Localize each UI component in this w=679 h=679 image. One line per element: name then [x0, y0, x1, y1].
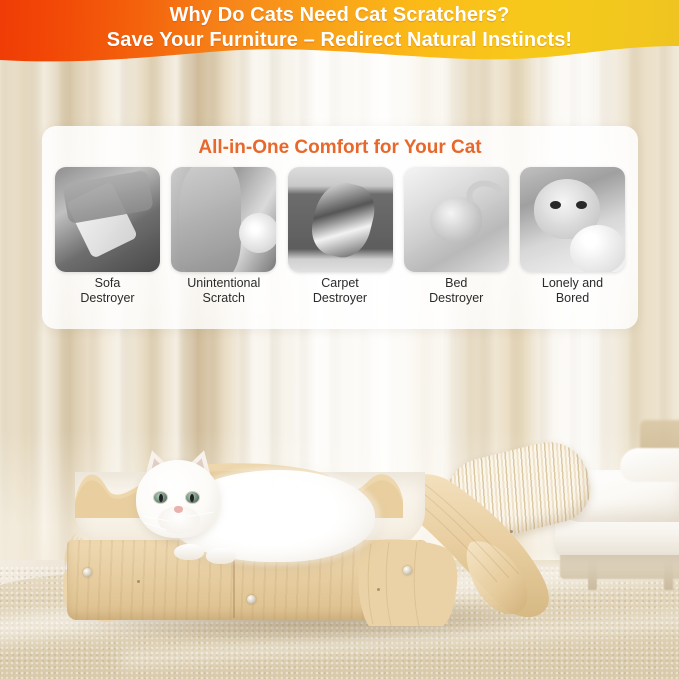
- thumb-cat-eye-right: [576, 201, 587, 209]
- thumb-cat-eye-left: [550, 201, 561, 209]
- caption-line-1: Lonely and: [517, 276, 629, 291]
- cat-on-carpet-photo: [288, 167, 393, 272]
- list-item[interactable]: Sofa Destroyer: [55, 167, 160, 319]
- caption-line-2: Bored: [517, 291, 629, 306]
- cat-head: [136, 460, 220, 538]
- white-persian-cat: [130, 448, 380, 568]
- caption-line-2: Destroyer: [400, 291, 512, 306]
- list-item[interactable]: Carpet Destroyer: [288, 167, 393, 319]
- cat-nose: [174, 506, 183, 513]
- product-infographic: Why Do Cats Need Cat Scratchers? Save Yo…: [0, 0, 679, 679]
- caption-line-2: Destroyer: [52, 291, 164, 306]
- cat-on-bed-photo: [404, 167, 509, 272]
- banner-headline-1: Why Do Cats Need Cat Scratchers?: [0, 4, 679, 27]
- bed-leg: [664, 560, 673, 590]
- caption-line-1: Sofa: [52, 276, 164, 291]
- problem-thumbnail-list: Sofa Destroyer Unintentional Scratch Car…: [55, 167, 625, 319]
- caption-line-2: Destroyer: [284, 291, 396, 306]
- caption-line-1: Bed: [400, 276, 512, 291]
- torn-sofa-photo: [55, 167, 160, 272]
- feature-card: All-in-One Comfort for Your Cat Sofa Des…: [42, 126, 638, 329]
- bed-leg: [588, 560, 597, 590]
- thumb-caption: Carpet Destroyer: [284, 276, 396, 305]
- cat-pupil-left: [159, 494, 163, 502]
- thumb-caption: Lonely and Bored: [517, 276, 629, 305]
- feature-card-title: All-in-One Comfort for Your Cat: [42, 137, 638, 159]
- list-item[interactable]: Bed Destroyer: [404, 167, 509, 319]
- scratched-chair-photo: [171, 167, 276, 272]
- screw: [403, 566, 412, 575]
- list-item[interactable]: Lonely and Bored: [520, 167, 625, 319]
- thumb-caption: Unintentional Scratch: [168, 276, 280, 305]
- caption-line-1: Carpet: [284, 276, 396, 291]
- cat-paw-left: [174, 544, 204, 560]
- banner-headline-2: Save Your Furniture – Redirect Natural I…: [0, 29, 679, 52]
- nail-hole: [377, 588, 380, 591]
- thumb-caption: Sofa Destroyer: [52, 276, 164, 305]
- nail-hole: [137, 580, 140, 583]
- sad-cat-photo: [520, 167, 625, 272]
- screw: [83, 568, 92, 577]
- caption-line-2: Scratch: [168, 291, 280, 306]
- list-item[interactable]: Unintentional Scratch: [171, 167, 276, 319]
- cat-paw-right: [206, 548, 236, 564]
- nail-hole: [510, 530, 513, 533]
- cat-eye-right: [186, 492, 199, 503]
- headline-banner: Why Do Cats Need Cat Scratchers? Save Yo…: [0, 0, 679, 70]
- thumb-caption: Bed Destroyer: [400, 276, 512, 305]
- cat-eye-left: [154, 492, 167, 503]
- screw: [247, 595, 256, 604]
- bed-pillow: [620, 448, 679, 482]
- caption-line-1: Unintentional: [168, 276, 280, 291]
- cat-pupil-right: [190, 494, 194, 502]
- wooden-cat-bed-scratcher: [55, 420, 575, 655]
